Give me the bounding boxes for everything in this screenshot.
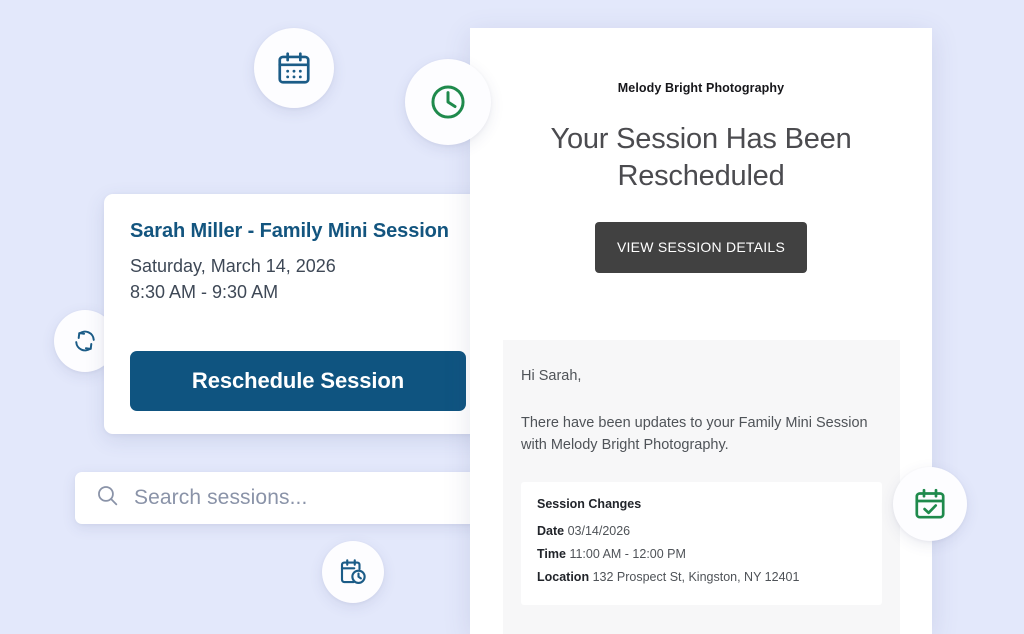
clock-badge[interactable] — [405, 59, 491, 145]
session-time: 8:30 AM - 9:30 AM — [130, 280, 466, 306]
email-intro: There have been updates to your Family M… — [521, 413, 882, 456]
change-label-time: Time — [537, 547, 566, 561]
email-body: Hi Sarah, There have been updates to you… — [503, 340, 900, 634]
email-brand: Melody Bright Photography — [470, 81, 932, 95]
session-title: Sarah Miller - Family Mini Session — [130, 220, 466, 243]
view-session-details-button[interactable]: VIEW SESSION DETAILS — [595, 222, 807, 273]
calendar-icon — [275, 49, 313, 87]
table-row: Date 03/14/2026 — [537, 520, 866, 543]
email-heading: Your Session Has Been Rescheduled — [470, 121, 932, 196]
calendar-check-badge[interactable] — [893, 467, 967, 541]
table-row: Location 132 Prospect St, Kingston, NY 1… — [537, 566, 866, 589]
reschedule-session-button[interactable]: Reschedule Session — [130, 351, 466, 411]
calendar-clock-icon — [338, 557, 368, 587]
change-value-location: 132 Prospect St, Kingston, NY 12401 — [593, 570, 800, 584]
calendar-clock-badge[interactable] — [322, 541, 384, 603]
search-placeholder: Search sessions... — [134, 486, 307, 510]
session-card: Sarah Miller - Family Mini Session Satur… — [104, 194, 494, 434]
change-label-date: Date — [537, 524, 564, 538]
email-cta-wrap: VIEW SESSION DETAILS — [470, 222, 932, 273]
table-row: Time 11:00 AM - 12:00 PM — [537, 543, 866, 566]
refresh-icon — [71, 327, 99, 355]
calendar-badge[interactable] — [254, 28, 334, 108]
search-icon — [95, 483, 120, 513]
search-input[interactable]: Search sessions... — [75, 472, 505, 524]
change-label-location: Location — [537, 570, 589, 584]
session-changes-title: Session Changes — [537, 497, 866, 511]
calendar-check-icon — [912, 486, 948, 522]
change-value-date: 03/14/2026 — [568, 524, 631, 538]
email-preview-panel: Melody Bright Photography Your Session H… — [470, 28, 932, 634]
app-canvas: Search sessions... Sarah Miller - Family… — [0, 0, 1024, 634]
change-value-time: 11:00 AM - 12:00 PM — [569, 547, 686, 561]
session-changes-box: Session Changes Date 03/14/2026 Time 11:… — [521, 482, 882, 605]
session-date: Saturday, March 14, 2026 — [130, 254, 466, 280]
email-greeting: Hi Sarah, — [521, 366, 882, 387]
clock-icon — [427, 81, 469, 123]
